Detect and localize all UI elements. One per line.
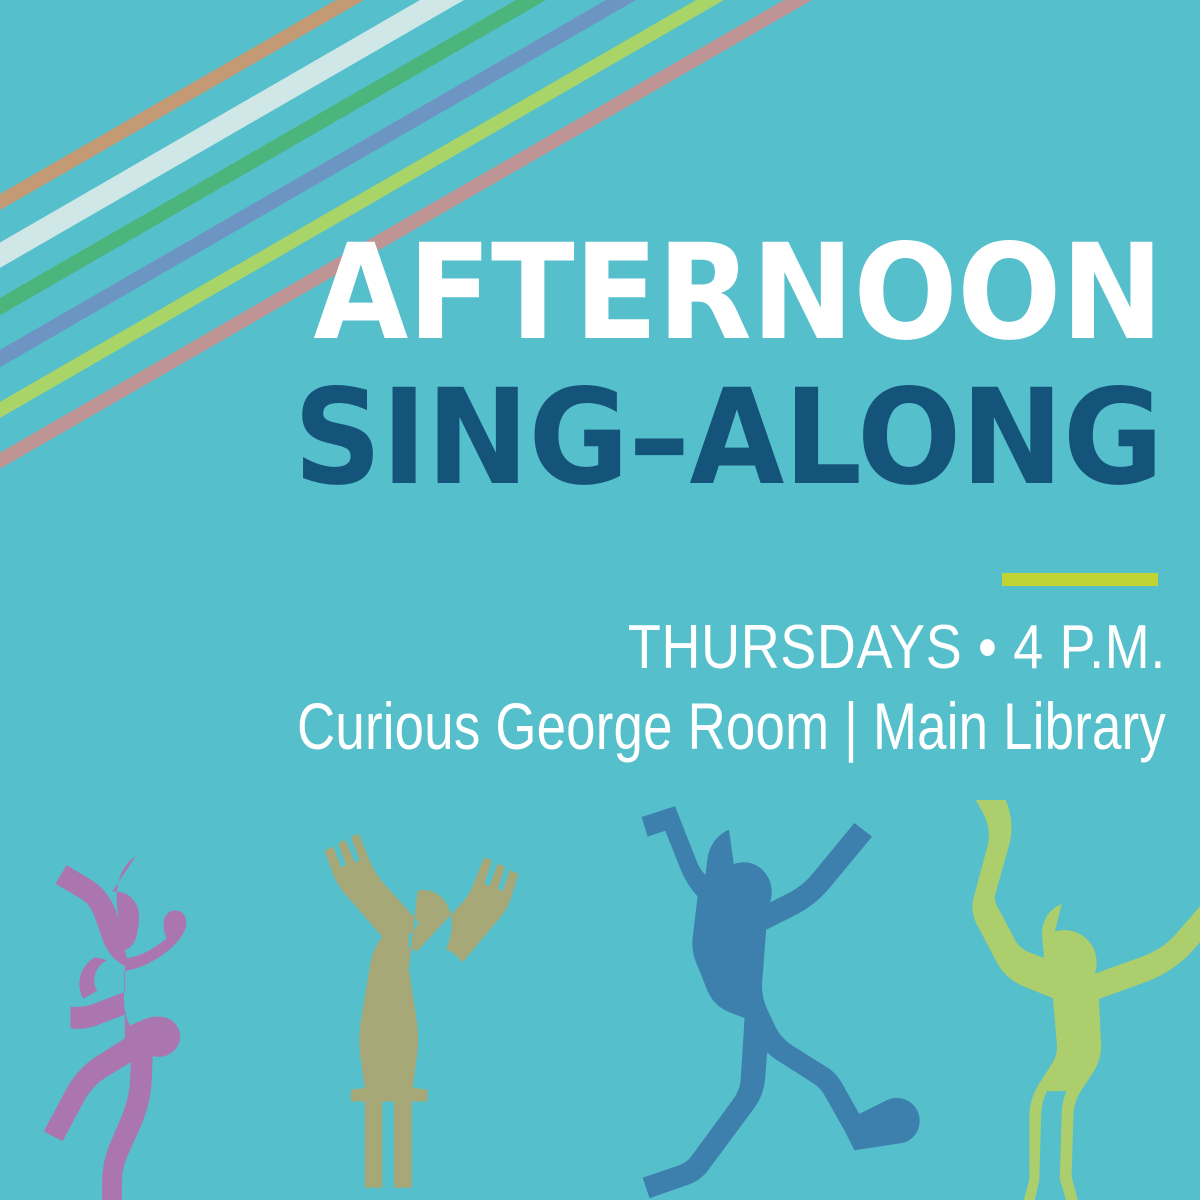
figure-running-girl xyxy=(44,856,187,1200)
figure-handstand-child xyxy=(939,800,1200,1200)
headline-block: AFTERNOON SING–ALONG xyxy=(0,232,1163,500)
event-schedule-text: THURSDAYS • 4 P.M. xyxy=(152,617,1166,679)
poster-canvas: AFTERNOON SING–ALONG THURSDAYS • 4 P.M. … xyxy=(0,0,1200,1200)
page-title-line-2: SING–ALONG xyxy=(81,377,1163,500)
page-title-line-1: AFTERNOON xyxy=(81,232,1163,355)
figure-leaping-child xyxy=(642,806,920,1198)
accent-rule xyxy=(1002,573,1158,586)
event-details-block: THURSDAYS • 4 P.M. Curious George Room |… xyxy=(0,617,1166,759)
event-location-text: Curious George Room | Main Library xyxy=(233,693,1166,759)
children-silhouettes-group xyxy=(0,800,1200,1200)
figure-arms-raised xyxy=(325,834,519,1188)
